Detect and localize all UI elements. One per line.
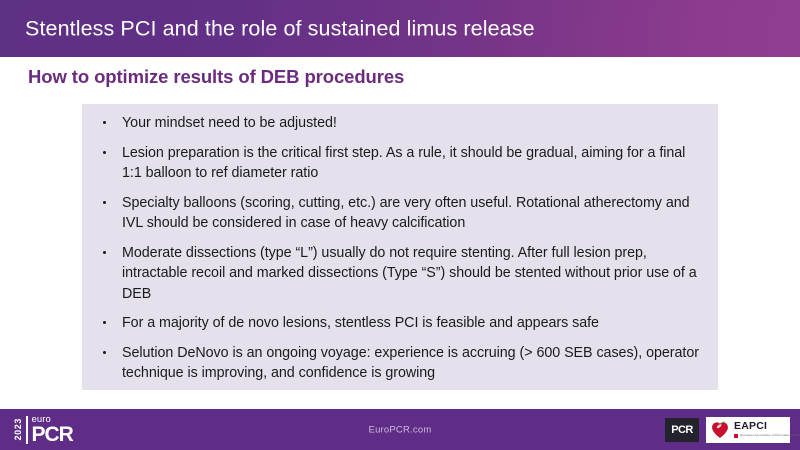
pcr-logo: PCR [665,418,699,442]
slide: Stentless PCI and the role of sustained … [0,0,800,450]
list-item-text: Specialty balloons (scoring, cutting, et… [122,195,690,232]
content-box: Your mindset need to be adjusted! Lesion… [82,104,718,390]
footer-bar: 2023 euro PCR EuroPCR.com PCR EAPCI Euro… [0,409,800,450]
list-item-text: Selution DeNovo is an ongoing voyage: ex… [122,345,699,382]
list-item-text: Lesion preparation is the critical first… [122,145,685,182]
bullet-list: Your mindset need to be adjusted! Lesion… [96,113,702,384]
list-item: For a majority of de novo lesions, stent… [96,313,702,334]
bullet-dot-icon [103,321,106,324]
bullet-dot-icon [103,201,106,204]
list-item: Selution DeNovo is an ongoing voyage: ex… [96,343,702,384]
pcr-logo-text: PCR [671,424,692,436]
eapci-logo: EAPCI European Association of Percutaneo… [706,417,790,443]
eapci-text: EAPCI European Association of Percutaneo… [734,421,800,438]
eapci-square-icon [734,434,738,438]
eapci-tagline-row: European Association of Percutaneous Car… [734,434,800,438]
title-bar: Stentless PCI and the role of sustained … [0,0,800,57]
bullet-dot-icon [103,121,106,124]
bullet-dot-icon [103,351,106,354]
eapci-name: EAPCI [734,421,800,432]
bullet-dot-icon [103,251,106,254]
slide-subtitle: How to optimize results of DEB procedure… [28,66,404,88]
bullet-dot-icon [103,151,106,154]
list-item-text: Moderate dissections (type “L”) usually … [122,245,697,302]
eapci-tagline: European Association of Percutaneous Car… [740,434,800,437]
slide-title: Stentless PCI and the role of sustained … [25,16,535,41]
list-item-text: For a majority of de novo lesions, stent… [122,315,599,331]
list-item: Your mindset need to be adjusted! [96,113,702,134]
list-item-text: Your mindset need to be adjusted! [122,115,337,131]
heart-icon [710,420,730,440]
list-item: Lesion preparation is the critical first… [96,143,702,184]
list-item: Moderate dissections (type “L”) usually … [96,243,702,305]
list-item: Specialty balloons (scoring, cutting, et… [96,193,702,234]
